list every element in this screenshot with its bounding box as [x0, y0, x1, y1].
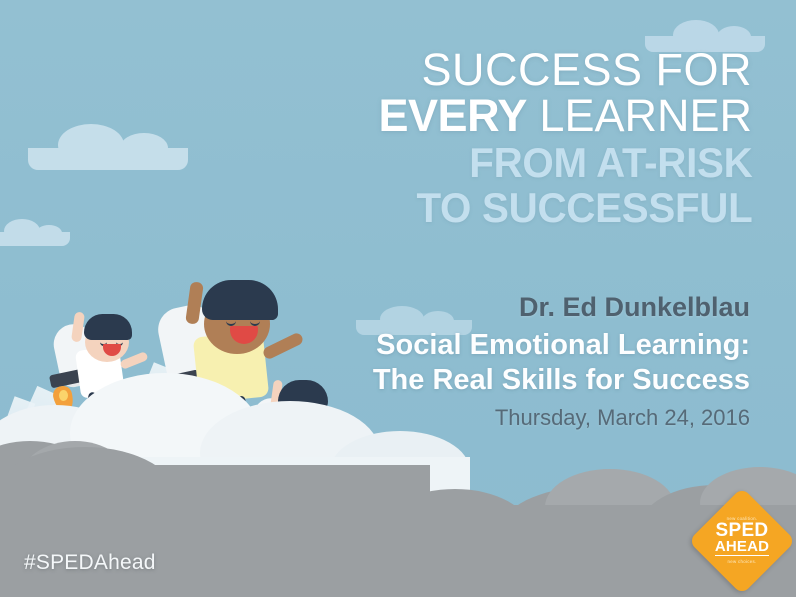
- cloud-bank-gray-mid: [0, 465, 430, 505]
- presentation-slide: SUCCESS FOR EVERY LEARNER FROM AT-RISK T…: [0, 0, 796, 597]
- hashtag: #SPEDAhead: [24, 551, 156, 575]
- headline-line-4: TO SUCCESSFUL: [393, 187, 752, 228]
- cloud-upper-left: [28, 148, 188, 170]
- sped-ahead-logo[interactable]: new coalition. SPED AHEAD new choices.: [704, 503, 780, 579]
- event-date: Thursday, March 24, 2016: [373, 406, 750, 431]
- hair: [202, 280, 278, 320]
- eye: [250, 316, 260, 326]
- speaker-name: Dr. Ed Dunkelblau: [373, 292, 750, 322]
- headline-line-2-rest: LEARNER: [527, 90, 752, 141]
- title-block: Dr. Ed Dunkelblau Social Emotional Learn…: [373, 292, 750, 431]
- logo-word-ahead: AHEAD: [715, 540, 769, 557]
- headline-line-3: FROM AT-RISK: [393, 142, 752, 183]
- talk-title-line-1: Social Emotional Learning:: [373, 329, 750, 361]
- headline-line-2: EVERY LEARNER: [379, 94, 752, 138]
- headline-line-1: SUCCESS FOR: [379, 48, 752, 92]
- headline-emphasis-every: EVERY: [379, 90, 527, 141]
- eye: [226, 316, 236, 326]
- talk-title-line-2: The Real Skills for Success: [373, 364, 750, 396]
- cloud-far-left: [0, 232, 70, 246]
- headline-block: SUCCESS FOR EVERY LEARNER FROM AT-RISK T…: [379, 48, 752, 229]
- logo-tagline-bottom: new choices.: [728, 560, 757, 564]
- logo-text-group: new coalition. SPED AHEAD new choices.: [704, 503, 780, 579]
- arm-right: [261, 331, 304, 360]
- hair: [84, 314, 132, 340]
